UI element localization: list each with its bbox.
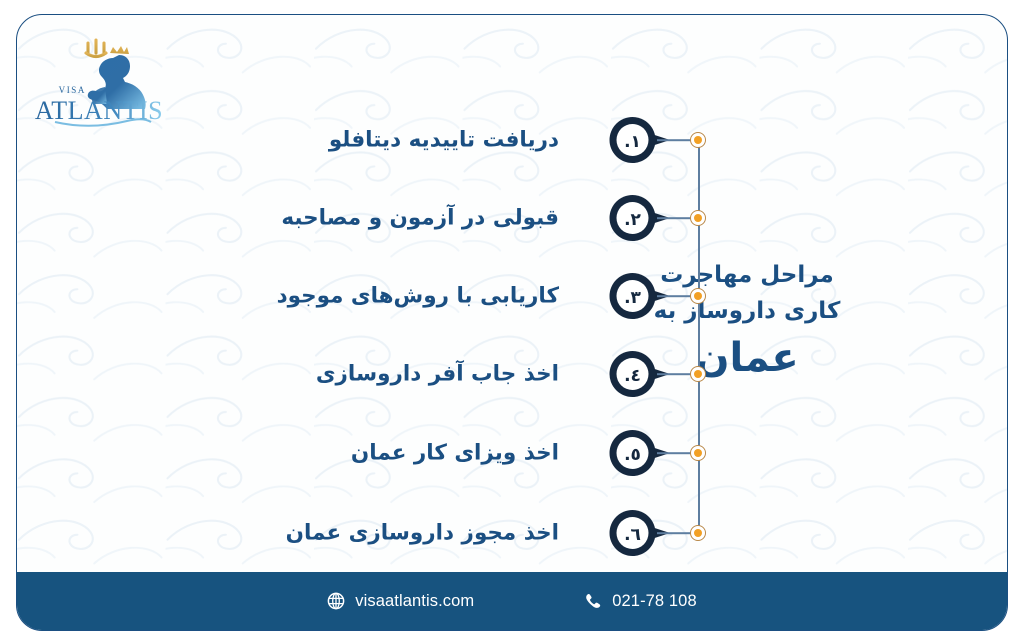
step-number: ٤.: [624, 366, 641, 386]
poster-card: VISA ATLANTIS مراحل مهاجرت کاری داروساز …: [16, 14, 1008, 631]
step-node-dot: [690, 132, 706, 148]
phone-text: 021-78 108: [612, 592, 697, 611]
step-label: دریافت تاییدیه دیتافلو: [329, 128, 559, 153]
phone-icon: [584, 592, 602, 610]
timeline-step: قبولی در آزمون و مصاحبه ٢.: [17, 188, 1007, 248]
website-text: visaatlantis.com: [355, 592, 474, 611]
step-label: قبولی در آزمون و مصاحبه: [281, 206, 559, 231]
infographic-poster: VISA ATLANTIS مراحل مهاجرت کاری داروساز …: [0, 0, 1024, 643]
globe-icon: [327, 592, 345, 610]
timeline-step: دریافت تاییدیه دیتافلو ١.: [17, 110, 1007, 170]
step-number: ٢.: [624, 210, 641, 230]
step-number: ٣.: [624, 288, 641, 308]
timeline-step: کاریابی با روش‌های موجود ٣.: [17, 266, 1007, 326]
step-node-dot: [690, 210, 706, 226]
step-number-bubble: ٥.: [608, 429, 657, 478]
footer-bar: visaatlantis.com 021-78 108: [17, 572, 1007, 630]
step-number: ١.: [624, 132, 641, 152]
step-number-bubble: ٤.: [608, 350, 657, 399]
step-number-bubble: ٣.: [608, 272, 657, 321]
step-number-bubble: ٦.: [608, 509, 657, 558]
steps-timeline: دریافت تاییدیه دیتافلو ١. قبولی د: [17, 15, 1007, 588]
step-label: اخذ جاب آفر داروسازی: [316, 362, 559, 387]
step-node-dot: [690, 288, 706, 304]
footer-website[interactable]: visaatlantis.com: [327, 592, 474, 611]
step-number: ٦.: [624, 525, 641, 545]
step-node-dot: [690, 445, 706, 461]
step-node-dot: [690, 525, 706, 541]
step-node-dot: [690, 366, 706, 382]
timeline-step: اخذ ویزای کار عمان ٥.: [17, 423, 1007, 483]
timeline-step: اخذ مجوز داروسازی عمان ٦.: [17, 503, 1007, 563]
step-number-bubble: ١.: [608, 116, 657, 165]
footer-phone[interactable]: 021-78 108: [584, 592, 697, 611]
step-label: کاریابی با روش‌های موجود: [277, 284, 559, 309]
step-label: اخذ مجوز داروسازی عمان: [286, 521, 559, 546]
content-area: مراحل مهاجرت کاری داروساز به عمان دریافت…: [17, 15, 1007, 588]
step-label: اخذ ویزای کار عمان: [351, 441, 559, 466]
step-number: ٥.: [624, 445, 641, 465]
timeline-step: اخذ جاب آفر داروسازی ٤.: [17, 344, 1007, 404]
step-number-bubble: ٢.: [608, 194, 657, 243]
